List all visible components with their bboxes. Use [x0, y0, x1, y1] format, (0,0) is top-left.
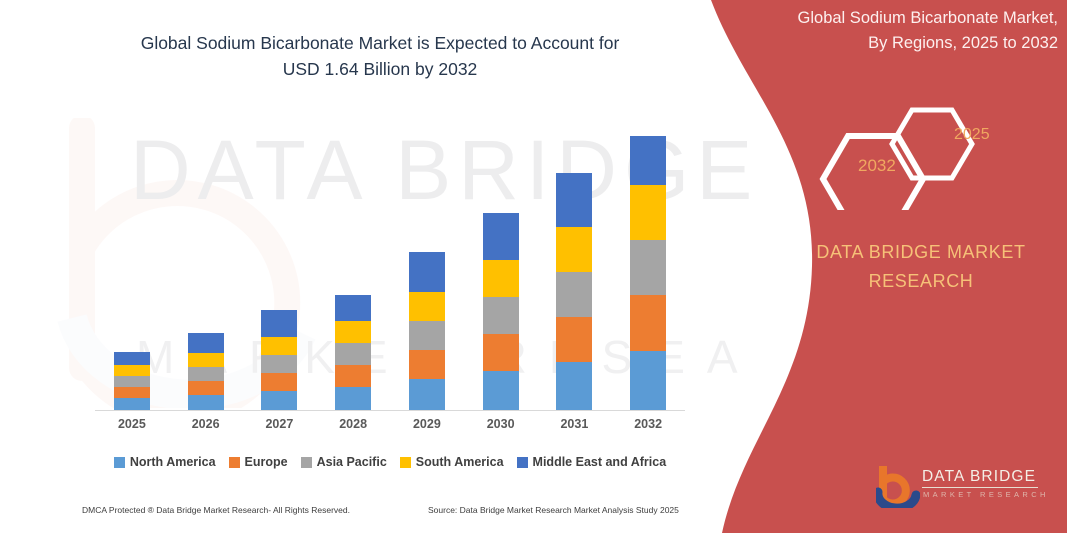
company-logo: DATA BRIDGE MARKET RESEARCH	[876, 466, 1046, 510]
logo-text-primary: DATA BRIDGE	[922, 468, 1036, 486]
logo-text-secondary: MARKET RESEARCH	[923, 490, 1049, 499]
hexagon-shapes-icon	[810, 98, 1030, 210]
brand-panel-title: Global Sodium Bicarbonate Market, By Reg…	[748, 6, 1058, 56]
brand-name-line-1: DATA BRIDGE MARKET	[806, 238, 1036, 267]
brand-panel-content: Global Sodium Bicarbonate Market, By Reg…	[0, 0, 1067, 533]
brand-name-line-2: RESEARCH	[806, 267, 1036, 296]
hexagon-large-label: 2032	[858, 156, 896, 176]
brand-title-line-2: By Regions, 2025 to 2032	[748, 31, 1058, 56]
infographic-root: DATA BRIDGE MARKET RESEARCH Global Sodiu…	[0, 0, 1067, 533]
brand-title-line-1: Global Sodium Bicarbonate Market,	[748, 6, 1058, 31]
brand-name: DATA BRIDGE MARKET RESEARCH	[806, 238, 1036, 296]
logo-b-mark-icon	[876, 466, 920, 508]
hexagon-small-label: 2025	[954, 126, 990, 144]
hexagon-group: 2032 2025	[810, 98, 1030, 210]
logo-divider	[922, 487, 1038, 488]
